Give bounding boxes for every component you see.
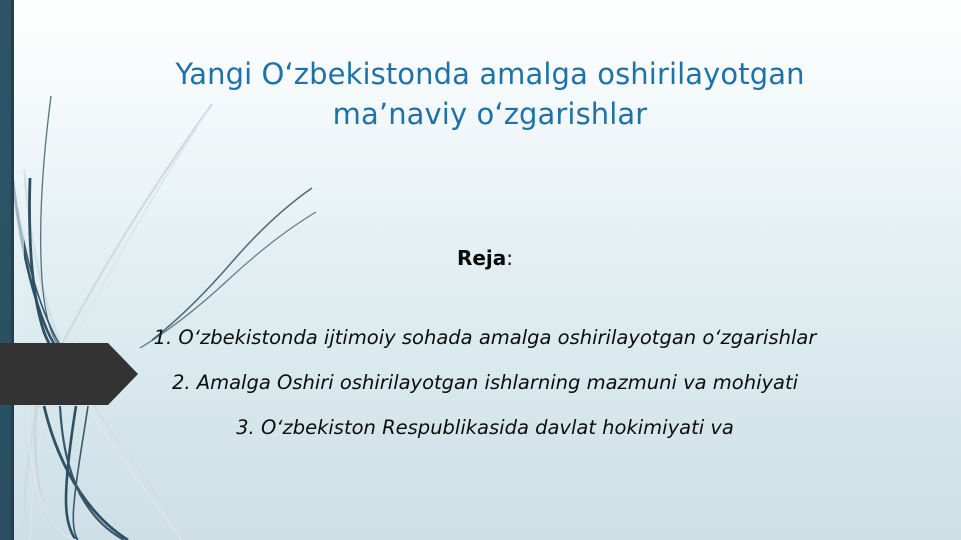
agenda-item-1: 1. Oʻzbekistonda ijtimoiy sohada amalga … <box>100 315 870 360</box>
agenda-heading: Reja: <box>100 245 870 271</box>
slide-body: Reja: 1. Oʻzbekistonda ijtimoiy sohada a… <box>100 245 870 450</box>
left-accent-seam <box>11 0 14 540</box>
left-accent-bar <box>0 0 11 540</box>
agenda-item-2: 2. Amalga Oshiri oshirilayotgan ishlarni… <box>100 360 870 405</box>
agenda-item-3: 3. Oʻzbekiston Respublikasida davlat hok… <box>100 405 870 450</box>
left-accent-highlight <box>14 0 24 540</box>
agenda-heading-colon: : <box>506 246 513 270</box>
slide-title: Yangi Oʻzbekistonda amalga oshirilayotga… <box>150 54 830 134</box>
presentation-slide: Yangi Oʻzbekistonda amalga oshirilayotga… <box>0 0 961 540</box>
agenda-heading-label: Reja <box>457 246 506 270</box>
